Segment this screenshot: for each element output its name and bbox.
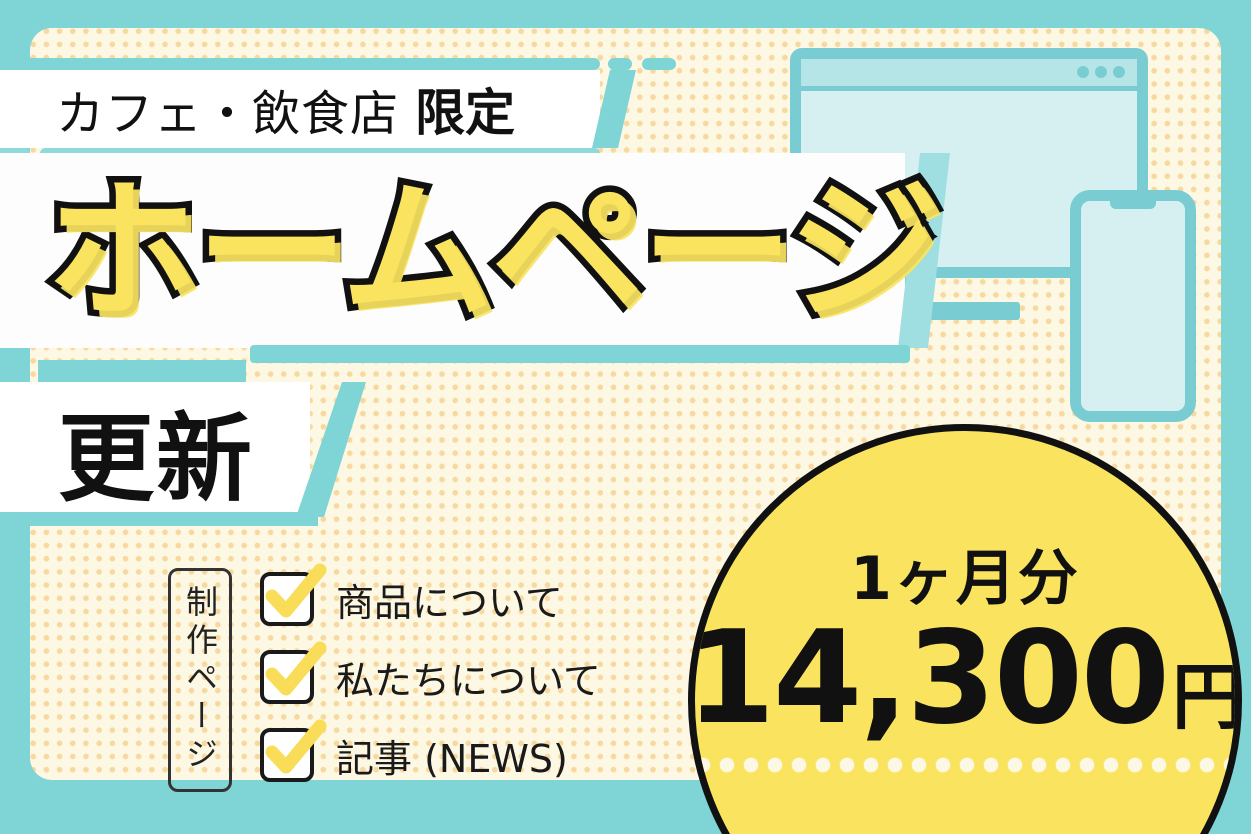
browser-dot [1113,66,1125,78]
subtitle-banner: 更新 [0,360,420,530]
price-badge-content: 1ヶ月分 14,300 円 [695,431,1235,834]
checkbox-checked-icon[interactable] [260,650,314,704]
browser-dot [1077,66,1089,78]
price-row: 14,300 円 [688,615,1242,743]
smartphone-icon [1070,190,1196,422]
checklist-item-label: 商品について [336,572,563,627]
eyebrow-top-dash [608,58,632,70]
promo-banner: カフェ・飲食店 限定 ホームページ 更新 制作ページ [0,0,1251,834]
page-title: ホームページ [46,176,938,328]
checklist-area: 制作ページ 商品について 私たちについて [160,560,680,800]
subtitle-text: 更新 [58,386,254,514]
checklist-item-label: 記事 (NEWS) [336,728,568,783]
browser-dot [1095,66,1107,78]
price-period: 1ヶ月分 [850,549,1080,609]
eyebrow-top-dash [642,58,676,70]
list-item[interactable]: 記事 (NEWS) [260,716,680,794]
eyebrow-top-rule [0,58,600,70]
price-dotted-divider [695,757,1235,773]
checklist: 商品について 私たちについて 記事 (NEWS) [260,560,680,794]
checkbox-checked-icon[interactable] [260,572,314,626]
title-text-wrap: ホームページ [46,159,886,345]
eyebrow-text: カフェ・飲食店 限定 [56,72,519,146]
phone-notch [1110,200,1156,209]
checklist-item-label: 私たちについて [336,650,601,705]
vertical-label-box: 制作ページ [168,568,232,792]
checkmark-icon [256,556,332,632]
price-amount: 14,300 [688,615,1168,743]
eyebrow-banner: カフェ・飲食店 限定 [0,58,640,163]
list-item[interactable]: 商品について [260,560,680,638]
checkbox-checked-icon[interactable] [260,728,314,782]
eyebrow-highlight-text: 限定 [411,73,519,145]
checkmark-icon [256,712,332,788]
title-banner: ホームページ [0,153,960,365]
price-currency: 円 [1172,661,1242,733]
list-item[interactable]: 私たちについて [260,638,680,716]
checkmark-icon [256,634,332,710]
browser-titlebar [801,59,1137,91]
browser-window-dots [1077,66,1125,78]
price-badge: 1ヶ月分 14,300 円 [688,424,1242,834]
vertical-label-text: 制作ページ [184,585,216,775]
eyebrow-normal-text: カフェ・飲食店 [56,74,399,144]
